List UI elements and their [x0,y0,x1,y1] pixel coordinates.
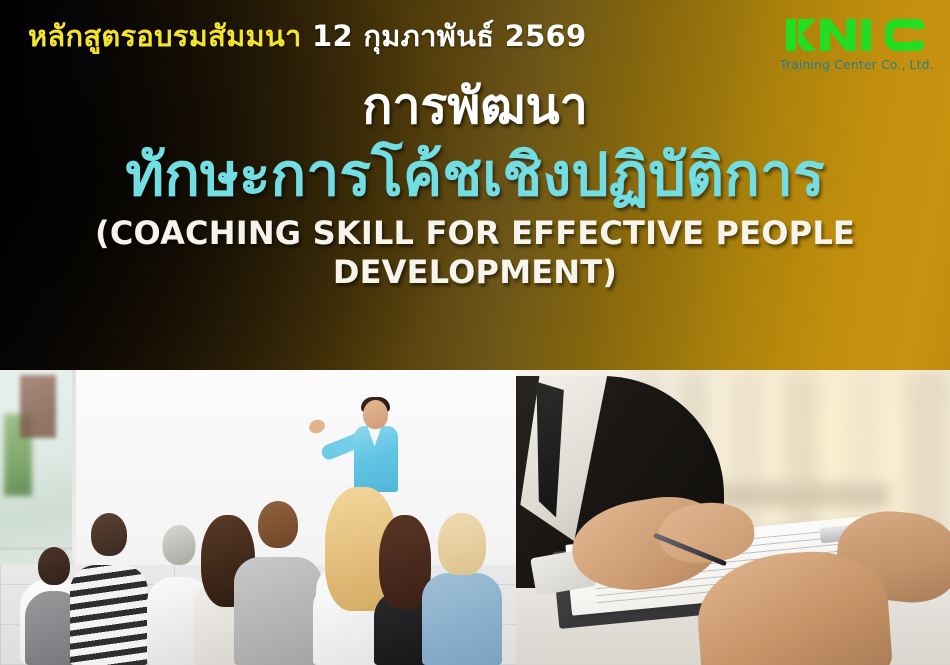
training-course-banner: หลักสูตรอบรมสัมมนา 12 กุมภาพันธ์ 2569 Tr… [0,0,950,665]
title-thai-line-1: การพัฒนา [0,78,950,134]
seminar-room-photo [0,370,516,665]
attendee [68,513,150,665]
knc-wordmark-icon [780,16,932,56]
attendee-torso [234,557,322,665]
attendee-head [91,513,127,556]
office-shelf [716,482,890,506]
knc-logo-subtitle: Training Center Co., Ltd. [780,57,932,72]
attendee-head [438,513,486,575]
photo-strip [0,370,950,665]
banner-header: หลักสูตรอบรมสัมมนา 12 กุมภาพันธ์ 2569 Tr… [0,0,950,370]
attendee-head [258,501,298,548]
attendee [232,501,324,665]
attendee-torso [422,573,502,665]
document-signing-photo [516,370,950,665]
attendee-torso [70,565,148,665]
attendee-head [38,547,70,585]
course-topline: หลักสูตรอบรมสัมมนา 12 กุมภาพันธ์ 2569 [28,20,587,53]
title-english: (COACHING SKILL FOR EFFECTIVE PEOPLE DEV… [0,214,950,292]
title-block: การพัฒนา ทักษะการโค้ชเชิงปฏิบัติการ (COA… [0,78,950,292]
course-label: หลักสูตรอบรมสัมมนา [28,19,302,53]
knc-logo[interactable]: Training Center Co., Ltd. [780,16,932,72]
course-date: 12 กุมภาพันธ์ 2569 [312,19,586,53]
title-thai-line-2: ทักษะการโค้ชเชิงปฏิบัติการ [0,142,950,208]
attendee [420,513,504,665]
presenter-head [363,400,388,429]
